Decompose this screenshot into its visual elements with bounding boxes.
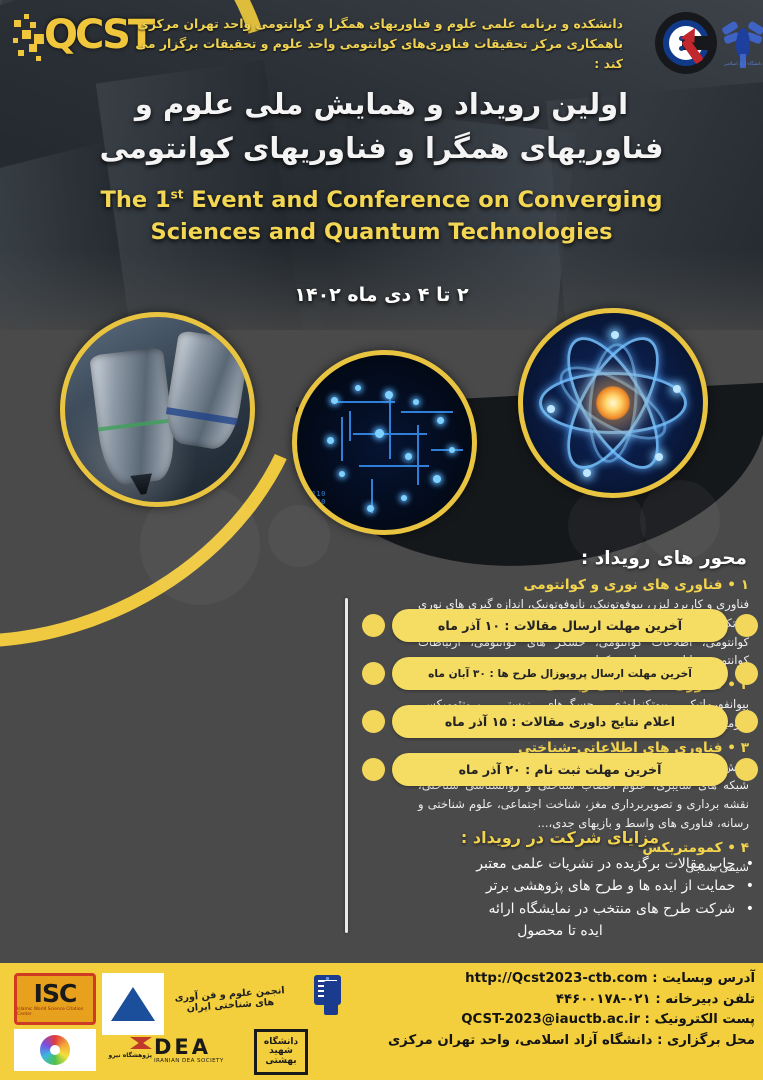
deadline-dot-left <box>362 614 385 637</box>
topics-heading: محور های رویداد : <box>418 548 747 569</box>
deadline-dot-right <box>735 710 758 733</box>
dea-title: DEA <box>154 1037 246 1058</box>
deadline-row: اعلام نتایج داوری مقالات : ۱۵ آذر ماه <box>362 701 758 742</box>
topic-label: فناوری های نوری و کوانتومی <box>524 577 723 593</box>
topic-number: ۱ <box>741 577 749 593</box>
deadline-row: آخرین مهلت ثبت نام : ۲۰ آذر ماه <box>362 749 758 790</box>
bullet-icon: • <box>746 878 754 894</box>
event-date: ۲ تا ۴ دی ماه ۱۴۰۲ <box>0 284 763 306</box>
topic-title: ۱ • فناوری های نوری و کوانتومی <box>418 577 749 593</box>
microscope-objective <box>162 330 251 452</box>
conference-poster: QCST دانشگاه آزاد اسلامی دانشکده و برنام… <box>0 0 763 1080</box>
footer-band: آدرس وبسایت : http://Qcst2023-ctb.com تل… <box>0 963 763 1080</box>
benefit-text: چاپ مقالات برگزیده در نشریات علمی معتبر <box>476 856 735 872</box>
website-label: آدرس وبسایت : <box>652 971 755 986</box>
persian-title: اولین رویداد و همایش ملی علوم و فناوریها… <box>0 82 763 170</box>
shahid-beheshti-logo: دانشگاه شهید بهشتی <box>254 1029 308 1075</box>
deadline-pill: آخرین مهلت ثبت نام : ۲۰ آذر ماه <box>392 753 728 786</box>
english-title: The 1st Event and Conference on Convergi… <box>0 185 763 249</box>
english-title-line-2: Sciences and Quantum Technologies <box>0 217 763 249</box>
contact-block: آدرس وبسایت : http://Qcst2023-ctb.com تل… <box>335 969 755 1051</box>
deadline-row: آخرین مهلت ارسال مقالات : ۱۰ آذر ماه <box>362 605 758 646</box>
deadline-dot-right <box>735 662 758 685</box>
venue-value: دانشگاه آزاد اسلامی، واحد تهران مرکزی <box>388 1033 652 1048</box>
deadline-dot-left <box>362 710 385 733</box>
ordinal-suffix: st <box>171 188 184 202</box>
shahid-text: دانشگاه شهید بهشتی <box>257 1038 305 1066</box>
benefits-heading: مزایای شرکت در رویداد : <box>362 828 758 847</box>
organizer-line-2: باهمکاری مرکز تحقیقات فناوری‌های کوانتوم… <box>128 34 623 74</box>
english-title-rest: Event and Conference on Converging <box>191 187 662 213</box>
benefit-continuation: ایده تا محصول <box>362 920 758 942</box>
deadline-dot-left <box>362 662 385 685</box>
azad-university-logo: دانشگاه آزاد اسلامی <box>722 10 763 80</box>
phone-label: تلفن دبیرخانه : <box>655 992 755 1007</box>
benefit-text: حمایت از ایده ها و طرح های پژوهشی برتر <box>486 878 735 894</box>
phone-row: تلفن دبیرخانه : ۰۲۱-۴۴۶۰۰۱۷۸ <box>335 990 755 1011</box>
qcr-center-logo <box>655 12 717 74</box>
azad-logo-caption: دانشگاه آزاد اسلامی <box>722 62 763 67</box>
deadline-pill: آخرین مهلت ارسال پروپوزال طرح ها : ۳۰ آب… <box>392 657 728 690</box>
benefits-section: مزایای شرکت در رویداد : • چاپ مقالات برگ… <box>362 828 758 943</box>
organizer-line-1: دانشکده و برنامه علمی علوم و فناوریهای ه… <box>128 14 623 34</box>
email-label: پست الکترونیک : <box>645 1012 755 1027</box>
atom-nucleus <box>596 386 630 420</box>
persian-title-line-2: فناوریهای همگرا و فناوریهای کوانتومی <box>0 126 763 170</box>
deadline-dot-left <box>362 758 385 781</box>
deadlines-column: آخرین مهلت ارسال مقالات : ۱۰ آذر ماه آخر… <box>362 605 758 797</box>
deadline-dot-right <box>735 614 758 637</box>
pnu-logo: پژوهشگاه نیرو <box>108 1037 152 1073</box>
website-row: آدرس وبسایت : http://Qcst2023-ctb.com <box>335 969 755 990</box>
venue-label: محل برگزاری : <box>657 1033 755 1048</box>
venue-row: محل برگزاری : دانشگاه آزاد اسلامی، واحد … <box>335 1031 755 1052</box>
deadline-row: آخرین مهلت ارسال پروپوزال طرح ها : ۳۰ آب… <box>362 653 758 694</box>
bullet-icon: • <box>746 856 754 872</box>
bullet-icon: • <box>746 901 754 917</box>
benefit-item: • حمایت از ایده ها و طرح های پژوهشی برتر <box>362 875 758 897</box>
email-row: پست الکترونیک : QCST-2023@iauctb.ac.ir <box>335 1010 755 1031</box>
organizer-lines: دانشکده و برنامه علمی علوم و فناوریهای ه… <box>128 14 623 74</box>
rainbow-logo <box>14 1029 96 1071</box>
circuit-brain-image: 0110010010011001 <box>292 350 477 535</box>
deadline-pill: آخرین مهلت ارسال مقالات : ۱۰ آذر ماه <box>392 609 728 642</box>
persian-title-line-1: اولین رویداد و همایش ملی علوم و <box>0 82 763 126</box>
qcst-logo: QCST <box>10 8 135 70</box>
microscope-objective <box>89 347 179 487</box>
lightning-icon <box>130 1037 152 1049</box>
isc-title: ISC <box>34 981 77 1006</box>
benefit-item: • شرکت طرح های منتخب در نمایشگاه ارائه <box>362 898 758 920</box>
phone-value: ۰۲۱-۴۴۶۰۰۱۷۸ <box>556 992 651 1007</box>
pnu-text: پژوهشگاه نیرو <box>108 1052 152 1059</box>
benefit-item: • چاپ مقالات برگزیده در نشریات علمی معتب… <box>362 853 758 875</box>
binary-digits: 0110010010011001 <box>307 491 326 522</box>
email-value[interactable]: QCST-2023@iauctb.ac.ir <box>461 1010 640 1031</box>
deadline-pill: اعلام نتایج داوری مقالات : ۱۵ آذر ماه <box>392 705 728 738</box>
english-title-line-1: The 1st Event and Conference on Convergi… <box>0 185 763 217</box>
deadline-dot-right <box>735 758 758 781</box>
column-divider <box>345 598 348 933</box>
blue-edge-decoration <box>324 981 338 1015</box>
isc-logo: ISC Islamic World Science Citation Cente… <box>14 973 96 1025</box>
association-text: انجمن علوم و فن آوری های شناختی ایران <box>165 985 294 1016</box>
microscope-image <box>60 312 255 507</box>
english-title-prefix: The 1 <box>100 187 170 213</box>
dea-subtitle: IRANIAN DEA SOCIETY <box>154 1058 246 1064</box>
triangle-icon <box>111 987 155 1021</box>
benefit-text: شرکت طرح های منتخب در نمایشگاه ارائه <box>489 901 736 917</box>
website-value[interactable]: http://Qcst2023-ctb.com <box>465 969 647 990</box>
dea-logo: DEA IRANIAN DEA SOCIETY <box>154 1037 246 1073</box>
cognitive-science-logo <box>102 973 164 1035</box>
isc-subtitle: Islamic World Science Citation Center <box>17 1007 93 1017</box>
sponsor-logos: ISC Islamic World Science Citation Cente… <box>6 967 336 1077</box>
atom-image <box>518 308 708 498</box>
rainbow-icon <box>40 1035 70 1065</box>
